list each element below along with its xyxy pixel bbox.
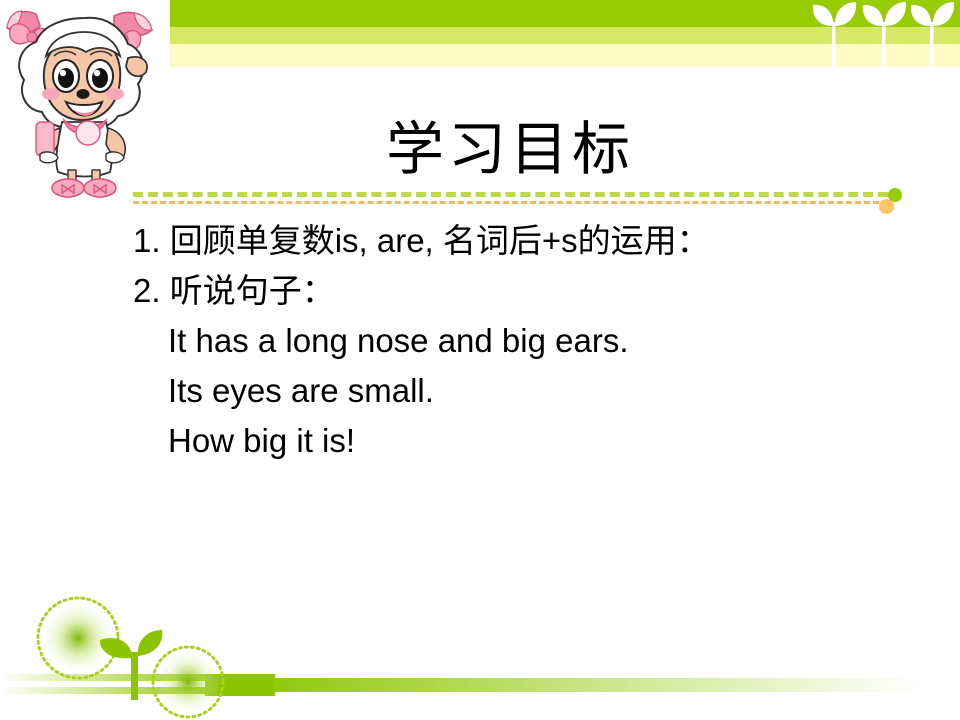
objectives-list: 1. 回顾单复数is, are, 名词后+s的运用： 2. 听说句子： It h… (133, 216, 933, 466)
sprout-icon (911, 2, 954, 67)
cheek-left (42, 88, 60, 100)
top-sprouts-decoration (812, 0, 960, 67)
list-item: It has a long nose and big ears. (133, 316, 933, 366)
divider-dash-orange (133, 201, 888, 204)
shoe-right (84, 179, 116, 197)
sprout-icon (863, 2, 906, 67)
ear-icon (126, 57, 147, 76)
eye-left-icon (53, 60, 79, 92)
shoe-left (52, 179, 84, 197)
bottom-band-right (240, 678, 920, 692)
slide-canvas: 学习目标 1. 回顾单复数is, are, 名词后+s的运用： 2. 听说句子：… (0, 0, 960, 720)
nose-icon (77, 89, 90, 99)
bubble-decoration-large (38, 598, 118, 678)
eye-right-icon (87, 60, 113, 92)
list-item: 1. 回顾单复数is, are, 名词后+s的运用： (133, 216, 933, 266)
list-item: Its eyes are small. (133, 366, 933, 416)
cuff-right (106, 152, 124, 163)
held-object (76, 121, 100, 145)
sprout-icon (813, 2, 856, 67)
page-title: 学习目标 (130, 112, 890, 186)
divider-dash-green (133, 192, 888, 197)
divider-dot-orange (879, 199, 894, 214)
cheek-right (106, 88, 124, 100)
list-item: 2. 听说句子： (133, 266, 933, 316)
dashed-divider (133, 192, 888, 208)
bottom-decoration (0, 590, 960, 720)
list-item: How big it is! (133, 416, 933, 466)
bubble-decoration-small (153, 647, 223, 717)
cuff-left (40, 152, 58, 163)
sleeve-left (36, 122, 54, 156)
